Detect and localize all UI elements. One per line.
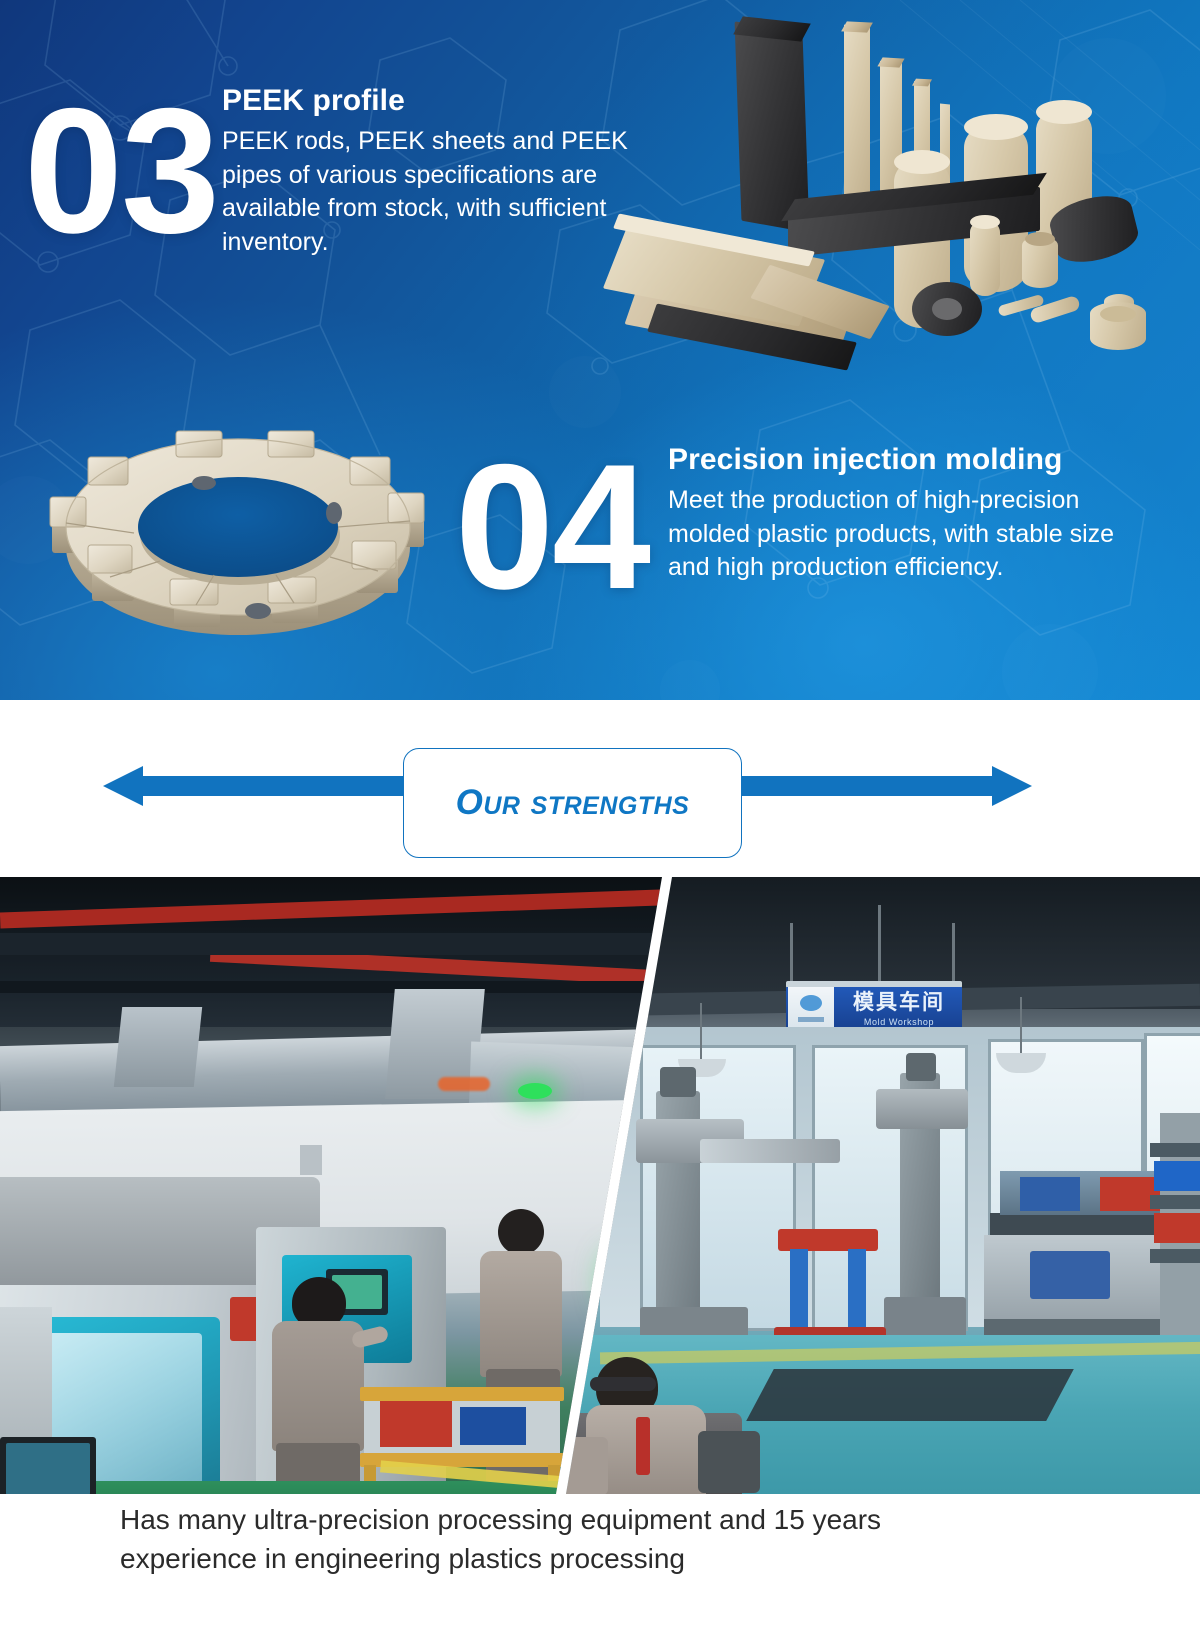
hero-body-04: Meet the production of high-precision mo…: [668, 484, 1138, 585]
photo-cnc-workshop: [0, 877, 662, 1494]
hero-item-03: PEEK profile PEEK rods, PEEK sheets and …: [222, 84, 662, 259]
hero-title-04: Precision injection molding: [668, 443, 1138, 476]
workshop-photos: 模具车间 Mold Workshop: [0, 877, 1200, 1494]
hero-number-03: 03: [24, 82, 218, 260]
hero-title-03: PEEK profile: [222, 84, 662, 117]
hero-blue-section: 03 PEEK profile PEEK rods, PEEK sheets a…: [0, 0, 1200, 700]
mold-workshop-sign-chinese: 模具车间: [838, 989, 960, 1016]
caption-line-2: experience in engineering plastics proce…: [0, 1539, 1200, 1578]
hero-body-03: PEEK rods, PEEK sheets and PEEK pipes of…: [222, 125, 662, 259]
strengths-label: Our strengths: [456, 783, 690, 823]
strengths-label-box: Our strengths: [403, 748, 742, 858]
peek-stock-shapes-image: [612, 10, 1200, 360]
hero-number-04: 04: [455, 438, 649, 616]
promo-page: 03 PEEK profile PEEK rods, PEEK sheets a…: [0, 0, 1200, 1636]
page-caption: Has many ultra-precision processing equi…: [0, 1500, 1200, 1578]
caption-line-1: Has many ultra-precision processing equi…: [0, 1500, 1200, 1539]
hero-item-04: Precision injection molding Meet the pro…: [668, 443, 1138, 585]
peek-gear-ring-image: [38, 395, 438, 670]
